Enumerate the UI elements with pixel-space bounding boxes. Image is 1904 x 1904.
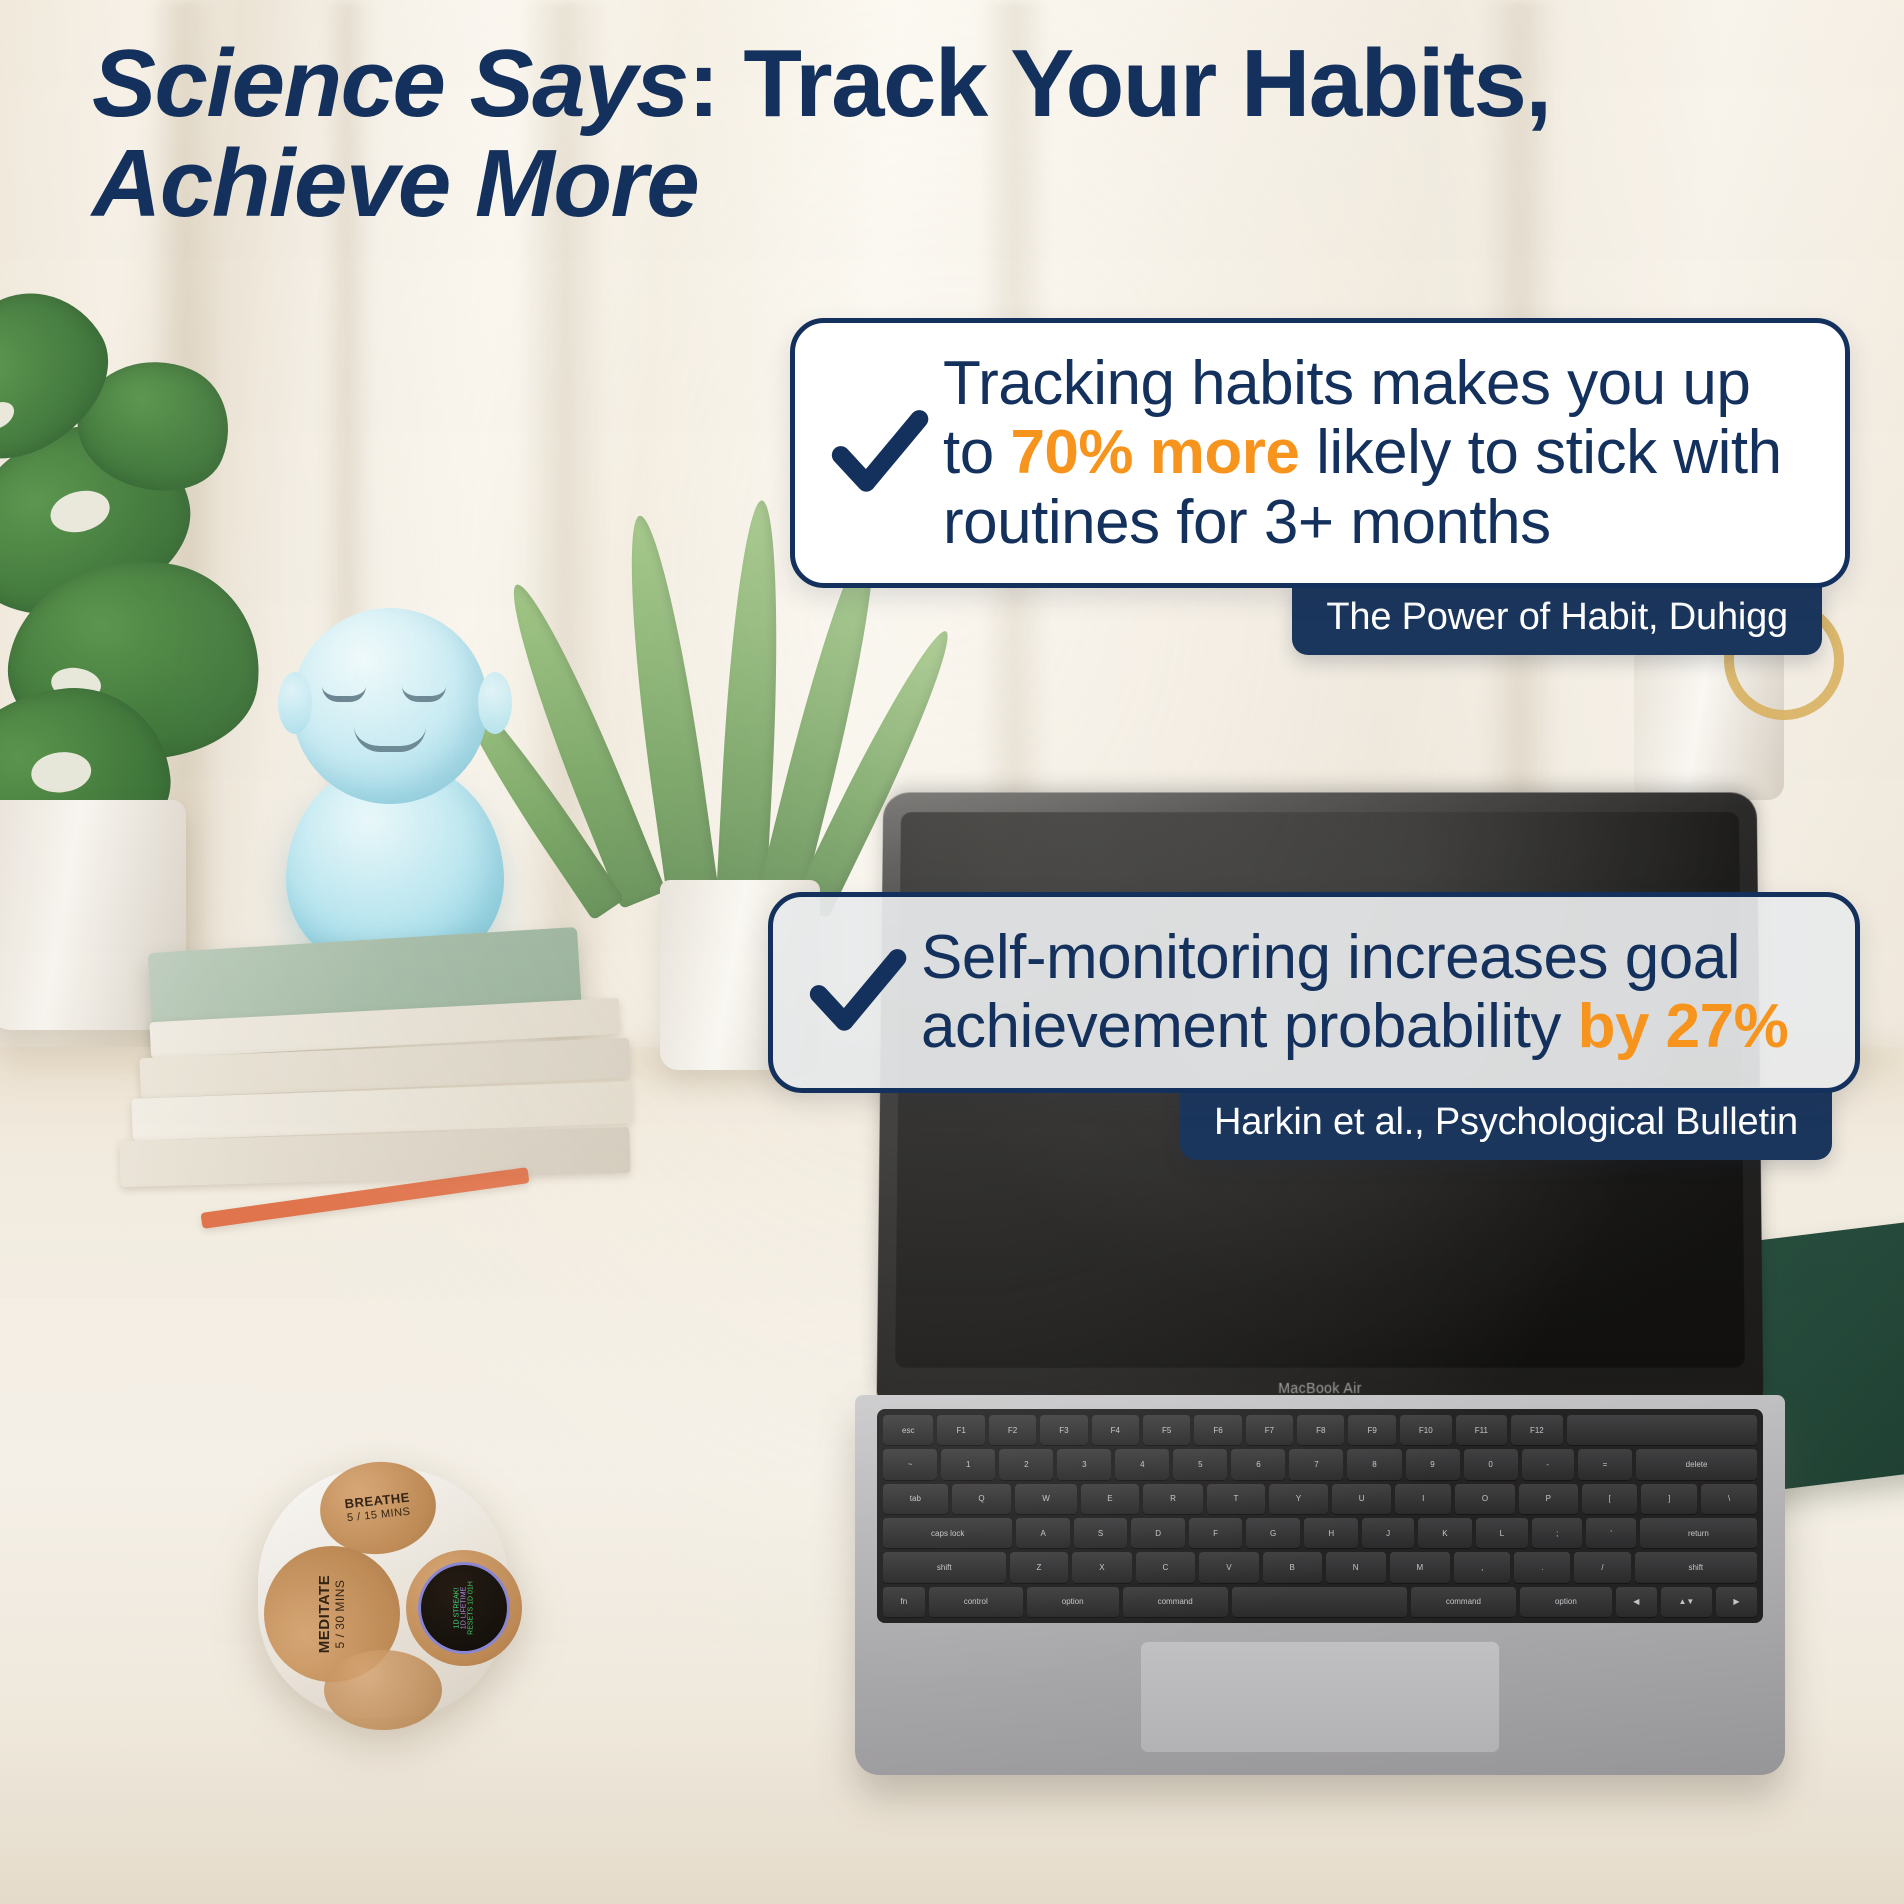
page-title: Science Says: Track Your Habits, Achieve… [92,34,1732,234]
headline-emphasis: Science Says [92,30,688,137]
checkmark-icon [821,395,937,511]
headline-line2: Achieve More [92,130,698,237]
stat-text-2: Self-monitoring increases goal achieveme… [921,923,1821,1062]
graphic-overlay: Science Says: Track Your Habits, Achieve… [0,0,1904,1904]
stat-text-1: Tracking habits makes you up to 70% more… [943,349,1811,557]
stat-block-1: Tracking habits makes you up to 70% more… [790,318,1850,655]
stat-highlight: by 27% [1578,992,1789,1061]
stat-card-1[interactable]: Tracking habits makes you up to 70% more… [790,318,1850,588]
attribution-1: The Power of Habit, Duhigg [1292,582,1822,655]
stat-highlight: 70% more [1010,418,1299,487]
stat-block-2: Self-monitoring increases goal achieveme… [768,892,1860,1160]
attribution-2: Harkin et al., Psychological Bulletin [1180,1087,1832,1160]
checkmark-icon [799,934,915,1050]
headline-rest: : Track Your Habits, [688,30,1551,137]
poster-canvas: MacBook Air escF1F2F3F4F5F6F7F8F9F10F11F… [0,0,1904,1904]
stat-card-2[interactable]: Self-monitoring increases goal achieveme… [768,892,1860,1093]
